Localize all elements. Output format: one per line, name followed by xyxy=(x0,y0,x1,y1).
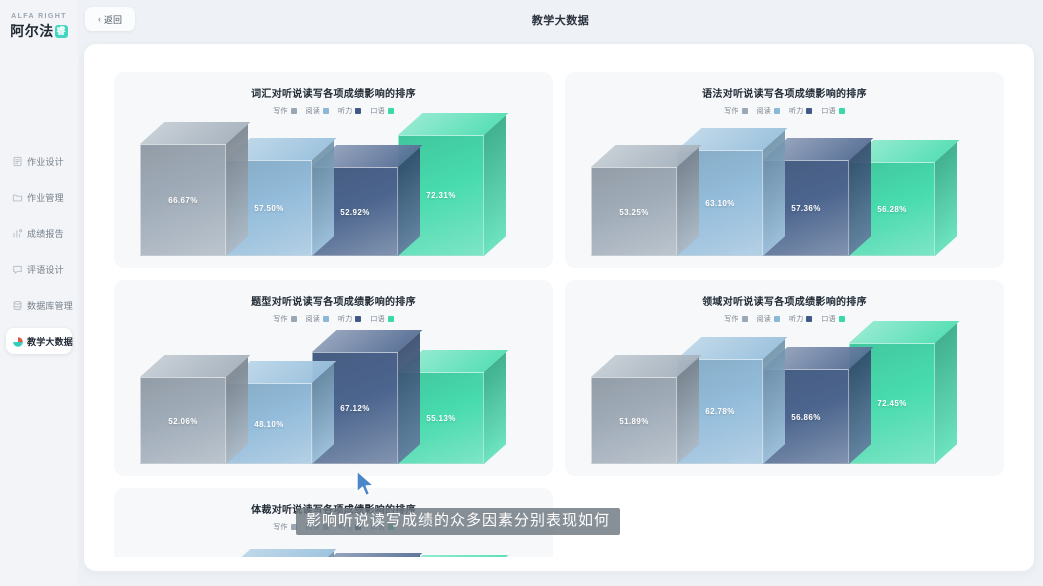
brand-logo: ALFA RIGHT 阿尔法 睿 xyxy=(0,12,78,40)
sidebar-item-0[interactable]: 作业设计 xyxy=(6,148,72,174)
bar-3d: 52.06% xyxy=(140,377,226,464)
legend-swatch xyxy=(291,316,297,322)
page-title: 教学大数据 xyxy=(78,12,1043,28)
chart-card-0[interactable]: 词汇对听说读写各项成绩影响的排序写作阅读听力口语72.31%52.92%57.5… xyxy=(114,72,553,268)
legend-label: 写作 xyxy=(273,522,287,532)
chart-bar-0[interactable]: 66.67% xyxy=(140,144,226,256)
legend-swatch xyxy=(388,108,394,114)
pie-chart-icon xyxy=(12,336,23,347)
legend-item-0[interactable]: 写作 xyxy=(724,106,747,116)
chart-bar-0[interactable]: 51.89% xyxy=(591,377,677,464)
legend-swatch xyxy=(839,108,845,114)
legend-item-3[interactable]: 口语 xyxy=(821,106,844,116)
bar-face-side xyxy=(484,115,506,256)
sidebar-nav: 作业设计作业管理成绩报告评语设计数据库管理教学大数据 xyxy=(0,148,78,354)
subtitle-text: 影响听说读写成绩的众多因素分别表现如何 xyxy=(306,512,610,530)
bar-face-side xyxy=(849,349,871,464)
legend-item-0[interactable]: 写作 xyxy=(724,314,747,324)
bar-3d: 53.25% xyxy=(591,167,677,256)
header-bar: ‹ 返回 教学大数据 xyxy=(78,0,1043,38)
chart-title: 词汇对听说读写各项成绩影响的排序 xyxy=(114,85,553,100)
bar-value-label: 52.06% xyxy=(140,417,226,426)
chart-card-3[interactable]: 领域对听说读写各项成绩影响的排序写作阅读听力口语72.45%56.86%62.7… xyxy=(565,280,1004,476)
sidebar-item-label: 作业设计 xyxy=(27,155,64,168)
sidebar-item-3[interactable]: 评语设计 xyxy=(6,256,72,282)
legend-swatch xyxy=(774,316,780,322)
legend-swatch xyxy=(806,108,812,114)
sidebar-item-label: 教学大数据 xyxy=(27,335,73,348)
folder-icon xyxy=(12,192,23,203)
brand-logo-en: ALFA RIGHT xyxy=(0,12,78,22)
chart-title: 领域对听说读写各项成绩影响的排序 xyxy=(565,293,1004,308)
bar-value-label: 51.89% xyxy=(591,417,677,426)
sidebar: ALFA RIGHT 阿尔法 睿 作业设计作业管理成绩报告评语设计数据库管理教学… xyxy=(0,0,78,586)
legend-swatch xyxy=(323,316,329,322)
legend-item-3[interactable]: 口语 xyxy=(370,314,393,324)
app-root: ALFA RIGHT 阿尔法 睿 作业设计作业管理成绩报告评语设计数据库管理教学… xyxy=(0,0,1043,586)
chart-plot-area: 72.31%52.92%57.50%66.67% xyxy=(114,116,553,256)
legend-item-1[interactable]: 阅读 xyxy=(757,106,780,116)
legend-label: 阅读 xyxy=(306,314,320,324)
legend-label: 阅读 xyxy=(306,106,320,116)
chart-plot-area xyxy=(114,532,553,557)
comment-icon xyxy=(12,264,23,275)
bar-face-side xyxy=(935,142,957,256)
legend-swatch xyxy=(742,316,748,322)
legend-label: 听力 xyxy=(338,314,352,324)
chart-card-2[interactable]: 题型对听说读写各项成绩影响的排序写作阅读听力口语55.13%67.12%48.1… xyxy=(114,280,553,476)
legend-item-2[interactable]: 听力 xyxy=(789,314,812,324)
sidebar-item-label: 数据库管理 xyxy=(27,299,73,312)
legend-item-0[interactable]: 写作 xyxy=(273,314,296,324)
legend-item-2[interactable]: 听力 xyxy=(338,106,361,116)
database-icon xyxy=(12,300,23,311)
bar-3d: 66.67% xyxy=(140,144,226,256)
bar-face-side xyxy=(935,323,957,464)
bar-value-label: 53.25% xyxy=(591,208,677,217)
legend-item-2[interactable]: 听力 xyxy=(338,314,361,324)
legend-swatch xyxy=(291,108,297,114)
bar-face-side xyxy=(763,130,785,256)
legend-swatch xyxy=(774,108,780,114)
chart-plot-area: 56.28%57.36%63.10%53.25% xyxy=(565,116,1004,256)
content-panel-inner: 词汇对听说读写各项成绩影响的排序写作阅读听力口语72.31%52.92%57.5… xyxy=(98,58,1020,557)
bar-face-side xyxy=(849,140,871,256)
subtitle-overlay: 影响听说读写成绩的众多因素分别表现如何 xyxy=(296,508,620,535)
legend-item-1[interactable]: 阅读 xyxy=(306,106,329,116)
chart-card-1[interactable]: 语法对听说读写各项成绩影响的排序写作阅读听力口语56.28%57.36%63.1… xyxy=(565,72,1004,268)
legend-label: 写作 xyxy=(724,106,738,116)
legend-swatch xyxy=(839,316,845,322)
sidebar-item-2[interactable]: 成绩报告 xyxy=(6,220,72,246)
content-panel: 词汇对听说读写各项成绩影响的排序写作阅读听力口语72.31%52.92%57.5… xyxy=(84,44,1034,571)
chart-card-grid: 词汇对听说读写各项成绩影响的排序写作阅读听力口语72.31%52.92%57.5… xyxy=(114,72,1004,557)
legend-label: 阅读 xyxy=(757,314,771,324)
legend-swatch xyxy=(388,316,394,322)
sidebar-item-5[interactable]: 教学大数据 xyxy=(6,328,72,354)
legend-swatch xyxy=(742,108,748,114)
chart-legend: 写作阅读听力口语 xyxy=(114,314,553,324)
bar-3d: 51.89% xyxy=(591,377,677,464)
bar-face-side xyxy=(763,339,785,464)
legend-swatch xyxy=(806,316,812,322)
sidebar-item-label: 作业管理 xyxy=(27,191,64,204)
legend-label: 听力 xyxy=(789,314,803,324)
legend-label: 口语 xyxy=(370,106,384,116)
legend-label: 听力 xyxy=(789,106,803,116)
bar-value-label: 66.67% xyxy=(140,196,226,205)
chart-title: 语法对听说读写各项成绩影响的排序 xyxy=(565,85,1004,100)
legend-label: 写作 xyxy=(273,314,287,324)
chart-plot-area: 55.13%67.12%48.10%52.06% xyxy=(114,324,553,464)
bar-face-top xyxy=(226,549,336,557)
legend-swatch xyxy=(323,108,329,114)
sidebar-item-4[interactable]: 数据库管理 xyxy=(6,292,72,318)
chart-legend: 写作阅读听力口语 xyxy=(565,106,1004,116)
sidebar-item-label: 成绩报告 xyxy=(27,227,64,240)
legend-label: 阅读 xyxy=(757,106,771,116)
legend-swatch xyxy=(355,108,361,114)
document-icon xyxy=(12,156,23,167)
legend-label: 口语 xyxy=(821,106,835,116)
legend-item-0[interactable]: 写作 xyxy=(273,106,296,116)
brand-badge: 睿 xyxy=(55,25,68,38)
report-icon xyxy=(12,228,23,239)
bar-face-side xyxy=(312,140,334,256)
sidebar-item-1[interactable]: 作业管理 xyxy=(6,184,72,210)
legend-label: 写作 xyxy=(724,314,738,324)
chart-bar-0[interactable]: 53.25% xyxy=(591,167,677,256)
sidebar-item-label: 评语设计 xyxy=(27,263,64,276)
legend-label: 听力 xyxy=(338,106,352,116)
legend-item-0[interactable]: 写作 xyxy=(273,522,296,532)
bar-face-side xyxy=(398,332,420,464)
chart-plot-area: 72.45%56.86%62.78%51.89% xyxy=(565,324,1004,464)
legend-label: 口语 xyxy=(370,314,384,324)
legend-label: 写作 xyxy=(273,106,287,116)
legend-item-3[interactable]: 口语 xyxy=(370,106,393,116)
brand-logo-cn: 阿尔法 睿 xyxy=(0,22,78,40)
legend-item-2[interactable]: 听力 xyxy=(789,106,812,116)
chart-title: 题型对听说读写各项成绩影响的排序 xyxy=(114,293,553,308)
legend-swatch xyxy=(355,316,361,322)
legend-item-1[interactable]: 阅读 xyxy=(757,314,780,324)
bar-face-side xyxy=(226,124,248,256)
legend-label: 口语 xyxy=(821,314,835,324)
bar-face-side xyxy=(484,352,506,464)
brand-logo-cn-text: 阿尔法 xyxy=(10,22,54,40)
legend-item-1[interactable]: 阅读 xyxy=(306,314,329,324)
mouse-cursor-icon xyxy=(355,470,377,503)
legend-item-3[interactable]: 口语 xyxy=(821,314,844,324)
chart-bar-0[interactable]: 52.06% xyxy=(140,377,226,464)
